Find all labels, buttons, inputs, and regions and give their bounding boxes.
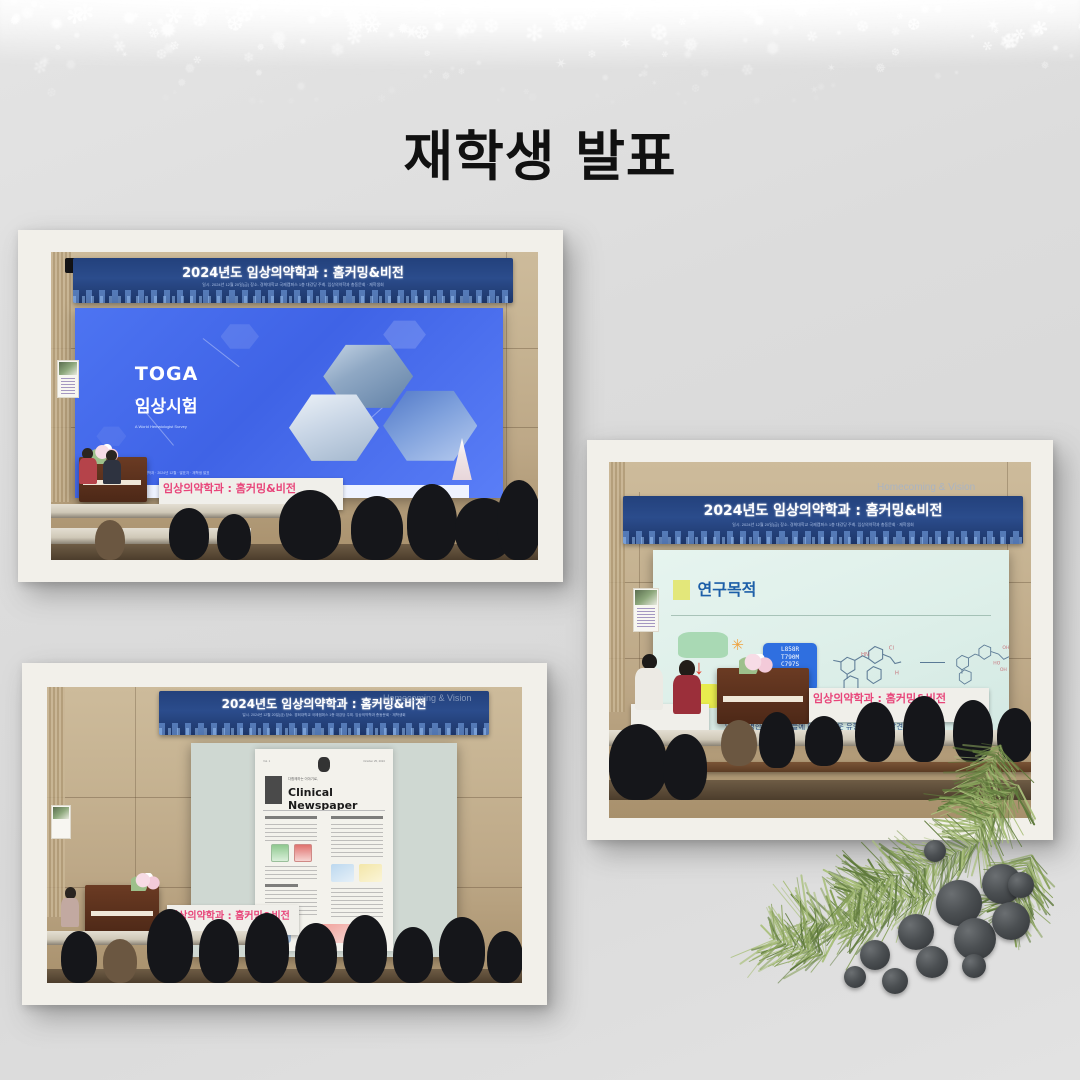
pine-needle	[834, 876, 877, 903]
pine-needle	[843, 867, 876, 884]
pine-needle	[803, 923, 825, 965]
pine-needle	[991, 898, 1014, 906]
photo-frame-toga[interactable]: 2024년도 임상의약학과 : 홈커밍&비전 일시. 2024년 12월 20일…	[18, 230, 563, 582]
presenter-body	[103, 460, 121, 484]
snowflake-icon: ✶	[254, 96, 267, 105]
pine-needle	[929, 855, 952, 900]
snowflake-icon: ❄	[168, 38, 182, 53]
pine-needle	[780, 922, 821, 942]
pine-needle	[768, 921, 774, 940]
pine-needle	[853, 875, 873, 885]
audience-head	[393, 927, 433, 983]
pine-needle	[994, 868, 1027, 870]
snowflake-icon: ❅	[746, 8, 761, 22]
banner-title: 2024년도 임상의약학과 : 홈커밍&비전	[623, 500, 1023, 520]
pine-needle	[889, 861, 929, 867]
pine-needle	[858, 889, 861, 928]
pine-needle	[903, 898, 911, 920]
snowflake-icon: ❅	[760, 38, 783, 60]
pine-needle	[769, 924, 781, 942]
pine-needle	[804, 953, 822, 972]
pine-needle	[1010, 908, 1017, 948]
pine-needle	[799, 901, 818, 922]
snowflake-icon: ✶	[453, 25, 463, 35]
newspaper-product-image	[271, 844, 289, 862]
pine-needle	[932, 861, 939, 900]
pine-needle	[990, 862, 1028, 864]
pine-needle	[926, 866, 929, 890]
pine-needle	[823, 869, 861, 890]
snowflake-icon: ✶	[485, 1, 497, 15]
pine-needle	[1019, 885, 1035, 908]
pine-needle	[855, 888, 863, 923]
banner-subtitle: 일시. 2024년 12월 20일(금) 장소. 경희대학교 국제캠퍼스 1층 …	[73, 282, 513, 288]
photo-frame-clinical-newspaper[interactable]: 2024년도 임상의약학과 : 홈커밍&비전 일시. 2024년 12월 20일…	[22, 663, 547, 1005]
audience-head	[147, 909, 193, 983]
snowflake-icon: ✹	[917, 4, 930, 15]
pine-needle	[895, 873, 913, 915]
pine-needle	[867, 912, 874, 931]
pine-needle	[842, 854, 877, 883]
pine-needle	[838, 878, 859, 889]
pine-needle	[1017, 890, 1030, 916]
pine-needle	[768, 910, 785, 943]
slide-heading: 연구목적	[698, 576, 757, 600]
pine-needle	[918, 895, 932, 925]
snowflake-icon: ❅	[9, 11, 24, 27]
pine-needle	[907, 888, 924, 897]
pine-needle	[887, 900, 894, 927]
photo-frame-research-goal[interactable]: 2024년도 임상의약학과 : 홈커밍&비전 일시. 2024년 12월 20일…	[587, 440, 1053, 840]
pine-needle	[796, 877, 804, 921]
audience-head	[609, 724, 667, 800]
pine-needle	[844, 904, 867, 927]
snowflake-icon: ❅	[811, 94, 819, 101]
pine-needle	[993, 865, 1028, 867]
pine-needle	[838, 885, 854, 892]
pine-needle	[817, 928, 820, 953]
pine-needle	[937, 847, 959, 852]
audience-head	[497, 480, 538, 560]
pine-needle	[1020, 882, 1050, 916]
pine-needle	[996, 876, 1024, 888]
snowflake-icon: ✹	[593, 92, 601, 101]
piano-keys	[91, 911, 153, 916]
pine-needle	[783, 918, 815, 951]
snowflake-icon: ❆	[229, 0, 258, 30]
pine-needle	[939, 854, 954, 876]
svg-text:OH: OH	[1002, 645, 1009, 651]
pine-needle	[837, 867, 885, 881]
snowflake-icon: ❆	[187, 9, 211, 33]
pine-needle	[770, 910, 787, 943]
pine-needle	[891, 897, 916, 922]
snowflake-icon: ❅	[303, 12, 318, 28]
snowflake-icon: ✻	[39, 4, 45, 11]
pine-needle	[887, 861, 899, 875]
pine-needle	[984, 883, 1020, 892]
pine-needle	[830, 877, 862, 889]
pine-needle	[1031, 855, 1048, 875]
poster-canvas: ❄❅✹❆✹✹✻❆✹❄❆✶✹❆✶✹❆❆❆❅✻❆✹❅✻✹❅✻❅✶✶✶✶❆✹❆❄✻❅✻…	[0, 0, 1080, 1080]
audience-head	[343, 915, 387, 983]
pine-needle	[756, 944, 791, 954]
svg-text:HO: HO	[993, 661, 1000, 667]
pine-needle	[833, 886, 851, 893]
pine-needle	[808, 927, 822, 953]
pine-needle	[843, 887, 864, 928]
pine-needle	[1030, 857, 1045, 893]
snowflake-icon: ✹	[338, 3, 365, 33]
pine-needle	[946, 857, 950, 890]
pine-needle	[889, 850, 915, 873]
pine-needle	[1020, 883, 1048, 913]
pine-needle	[926, 851, 952, 855]
pine-needle	[839, 928, 861, 939]
pine-needle	[986, 902, 1013, 913]
pine-needle	[959, 850, 962, 870]
pine-needle	[899, 874, 900, 897]
banner-title: 2024년도 임상의약학과 : 홈커밍&비전	[73, 262, 513, 281]
pine-needle	[847, 927, 857, 946]
snowflake-icon: ❅	[1037, 59, 1050, 72]
pine-needle	[886, 875, 907, 899]
pine-needle	[933, 839, 955, 854]
presenter-body	[635, 668, 663, 710]
pine-needle	[867, 858, 894, 901]
pine-needle	[976, 882, 1021, 906]
snow-fog	[0, 0, 1080, 70]
pine-needle	[1021, 880, 1030, 905]
snowflake-icon: ✶	[494, 98, 501, 105]
snowflake-icon: ❄	[144, 25, 162, 44]
pine-needle	[895, 898, 910, 943]
reaction-arrow	[920, 662, 945, 663]
pine-needle	[1012, 855, 1032, 861]
pine-needle	[960, 848, 966, 872]
snowflake-icon: ❆	[112, 33, 120, 40]
pine-needle	[834, 882, 858, 890]
snowflake-icon: ✹	[245, 0, 263, 17]
pine-needle	[892, 895, 929, 927]
pine-needle	[928, 849, 942, 860]
presenter-body	[79, 458, 97, 484]
pine-needle	[834, 865, 869, 886]
snowflake-icon: ✶	[654, 25, 666, 37]
pine-needle	[795, 895, 814, 922]
pine-needle	[1022, 877, 1044, 904]
snowflake-icon: ✹	[592, 2, 598, 9]
newspaper-column-heading	[265, 884, 298, 887]
pine-needle	[904, 858, 937, 863]
pine-needle	[861, 870, 896, 877]
pine-needle	[912, 875, 923, 897]
snowflake-icon: ✹	[636, 73, 643, 80]
snowflake-icon: ❆	[1031, 0, 1046, 14]
snowflake-border: ❄❅✹❆✹✹✻❆✹❄❆✶✹❆✶✹❆❆❆❅✻❆✹❅✻✹❅✻❅✶✶✶✶❆✹❆❄✻❅✻…	[0, 0, 1080, 105]
pine-needle	[914, 870, 920, 904]
pine-needle	[773, 884, 803, 920]
pine-needle	[829, 889, 845, 926]
pine-needle	[803, 923, 829, 948]
pine-needle	[866, 875, 897, 914]
newspaper-body-text	[265, 824, 318, 842]
decorative-berry	[1008, 872, 1034, 898]
pine-needle	[954, 853, 957, 873]
flower-arrangement	[131, 873, 165, 891]
banner-subtitle: 일시. 2024년 12월 20일(금) 장소. 경희대학교 국제캠퍼스 1층 …	[623, 522, 1023, 528]
pine-needle	[835, 905, 849, 927]
pine-needle	[811, 906, 828, 924]
audience-head	[169, 508, 209, 560]
newspaper-body-text	[265, 866, 318, 880]
pine-needle	[851, 871, 889, 902]
pine-needle	[767, 948, 805, 967]
pine-needle	[806, 892, 843, 927]
pine-needle	[977, 894, 1015, 898]
snowflake-icon: ✹	[298, 38, 307, 46]
pine-needle	[1029, 860, 1034, 890]
pine-needle	[777, 947, 802, 956]
audience-head	[95, 520, 125, 560]
snowflake-icon: ❄	[993, 31, 1018, 54]
pine-needle	[1016, 893, 1035, 924]
pine-needle	[833, 890, 856, 916]
pine-needle	[858, 881, 881, 903]
pine-needle	[856, 886, 867, 909]
pine-needle	[984, 869, 1025, 874]
pine-needle	[995, 858, 1030, 873]
pine-needle	[847, 870, 867, 886]
pine-needle	[1030, 858, 1037, 881]
svg-text:HN: HN	[861, 652, 869, 658]
pine-needle	[783, 924, 810, 950]
pine-needle	[853, 890, 856, 921]
pine-needle	[922, 842, 957, 853]
poster-image	[59, 362, 77, 375]
pine-needle	[913, 869, 929, 896]
pine-needle	[1018, 889, 1037, 928]
snowflake-icon: ❄	[739, 4, 755, 19]
pine-needle	[913, 895, 927, 907]
pine-needle	[842, 887, 861, 929]
pine-needle	[933, 847, 946, 858]
poster-text-lines	[61, 378, 75, 394]
pine-needle	[842, 849, 875, 883]
pine-needle	[767, 916, 779, 941]
pine-needle	[781, 920, 809, 953]
snowflake-icon: ✻	[1069, 55, 1074, 61]
pine-needle	[1024, 873, 1048, 915]
pine-needle	[827, 870, 866, 887]
pine-needle	[823, 905, 832, 924]
pine-needle	[730, 939, 773, 958]
pine-needle	[902, 837, 928, 866]
newspaper-infographic	[331, 864, 355, 882]
pine-needle	[748, 942, 784, 962]
pine-needle	[937, 860, 942, 879]
pine-needle	[827, 901, 851, 928]
pine-needle	[894, 899, 903, 921]
pine-needle	[1014, 860, 1030, 868]
svg-text:OH: OH	[1000, 667, 1007, 673]
pine-needle	[1022, 876, 1034, 916]
pine-needle	[772, 944, 792, 966]
pine-needle	[868, 877, 912, 899]
pine-needle	[1021, 881, 1033, 918]
pine-needle	[747, 940, 776, 978]
pine-needle	[760, 945, 794, 961]
pine-needle	[1014, 896, 1043, 938]
pine-needle	[882, 852, 914, 873]
pine-needle	[921, 868, 923, 890]
snowflake-icon: ❄	[243, 50, 255, 64]
pine-needle	[918, 870, 932, 895]
slide-title-en: TOGA	[135, 363, 198, 385]
snowflake-icon: ✶	[398, 20, 423, 46]
piano-keys	[723, 696, 803, 702]
snowflake-icon: ✶	[426, 67, 436, 76]
pine-needle	[912, 894, 936, 912]
pine-needle	[1028, 862, 1044, 908]
presenter	[79, 448, 97, 484]
audience-head	[351, 496, 403, 560]
pine-needle	[809, 930, 811, 950]
pine-needle	[916, 862, 935, 895]
pine-needle	[874, 880, 884, 922]
pine-needle	[815, 939, 823, 954]
snowflake-icon: ✹	[5, 13, 22, 30]
pine-needle	[928, 851, 947, 857]
newspaper-column-heading	[265, 816, 318, 819]
pine-needle	[832, 883, 871, 904]
pine-needle	[760, 924, 776, 941]
snowflake-icon: ✶	[807, 84, 821, 98]
snowflake-icon: ❄	[895, 11, 905, 20]
pine-needle	[1011, 906, 1016, 926]
event-banner: 2024년도 임상의약학과 : 홈커밍&비전 일시. 2024년 12월 20일…	[73, 258, 513, 303]
pine-needle	[906, 846, 948, 857]
pine-needle	[952, 843, 976, 888]
pine-needle	[790, 924, 837, 943]
pine-needle	[819, 926, 851, 940]
pine-needle	[913, 851, 951, 856]
snowflake-icon: ✹	[600, 73, 610, 84]
snowflake-icon: ❅	[342, 15, 366, 36]
pine-needle	[880, 900, 897, 928]
snowflake-icon: ❅	[546, 11, 575, 41]
snowflake-icon: ✻	[31, 59, 48, 78]
pine-needle	[809, 935, 817, 952]
snowflake-icon: ❆	[356, 1, 379, 21]
pine-needle	[825, 891, 852, 922]
pine-needle	[1026, 867, 1039, 888]
snowflake-icon: ❅	[473, 59, 482, 68]
pine-needle	[864, 882, 879, 921]
pine-needle	[840, 892, 851, 906]
snowflake-icon: ✻	[414, 2, 425, 15]
pine-needle	[1015, 895, 1050, 925]
pine-needle	[834, 900, 854, 927]
snowflake-icon: ✶	[355, 23, 364, 31]
snowflake-icon: ❆	[409, 21, 432, 46]
pine-needle	[852, 929, 868, 949]
pine-needle	[785, 913, 807, 949]
decorative-berry	[992, 902, 1030, 940]
pine-needle	[871, 877, 891, 918]
pine-needle	[932, 862, 936, 881]
snowflake-icon: ✶	[385, 29, 398, 43]
pine-needle	[1002, 872, 1025, 882]
pine-needle	[892, 848, 941, 861]
pine-needle	[915, 871, 919, 899]
pine-needle	[853, 885, 867, 905]
snowflake-icon: ❅	[678, 35, 700, 54]
snowflake-icon: ❆	[455, 0, 474, 19]
pine-needle	[858, 869, 886, 902]
snowflake-icon: ❆	[62, 59, 75, 70]
audience-head	[805, 716, 843, 766]
snowflake-icon: ✹	[393, 20, 412, 37]
presenter-male	[635, 654, 663, 710]
pine-needle	[792, 920, 804, 936]
pine-needle	[825, 922, 827, 955]
pine-needle	[930, 846, 944, 859]
pine-needle	[822, 875, 861, 906]
pine-needle	[856, 892, 869, 905]
pine-needle	[844, 905, 859, 933]
banner-cityscape	[73, 290, 513, 303]
pine-needle	[836, 854, 872, 885]
pine-needle	[879, 901, 893, 918]
flower-arrangement	[739, 654, 779, 674]
pine-needle	[759, 944, 790, 971]
snowflake-icon: ✻	[158, 93, 169, 103]
snowflake-icon: ✻	[980, 40, 993, 52]
snowflake-icon: ✶	[834, 28, 843, 38]
pine-needle	[795, 951, 815, 965]
pine-needle	[752, 942, 785, 961]
pine-needle	[860, 880, 882, 911]
snowflake-icon: ✹	[749, 12, 767, 31]
newspaper-issue: Vol. 1	[263, 759, 270, 763]
pine-needle	[792, 948, 804, 965]
pine-needle	[946, 856, 950, 896]
pine-needle	[871, 866, 887, 879]
pine-needle	[956, 845, 973, 877]
audience-head	[487, 931, 522, 983]
snowflake-icon: ❆	[43, 87, 56, 99]
snowflake-icon: ❅	[311, 95, 321, 104]
snowflake-icon: ❅	[273, 41, 287, 55]
pine-needle	[1009, 857, 1031, 864]
snowflake-icon: ✻	[746, 8, 755, 17]
pine-needle	[904, 879, 917, 899]
pine-needle	[846, 899, 860, 929]
pine-needle	[785, 925, 796, 946]
pine-needle	[766, 907, 783, 942]
poster-image	[53, 807, 69, 819]
svg-text:H: H	[895, 670, 899, 676]
pine-needle	[783, 926, 804, 948]
pine-needle	[933, 863, 936, 880]
snowflake-icon: ❄	[688, 10, 702, 25]
newspaper-column-heading	[331, 816, 384, 819]
snowflake-icon: ❆	[28, 0, 39, 10]
pine-needle	[822, 877, 837, 925]
pine-needle	[881, 899, 905, 943]
pine-needle	[874, 879, 886, 893]
